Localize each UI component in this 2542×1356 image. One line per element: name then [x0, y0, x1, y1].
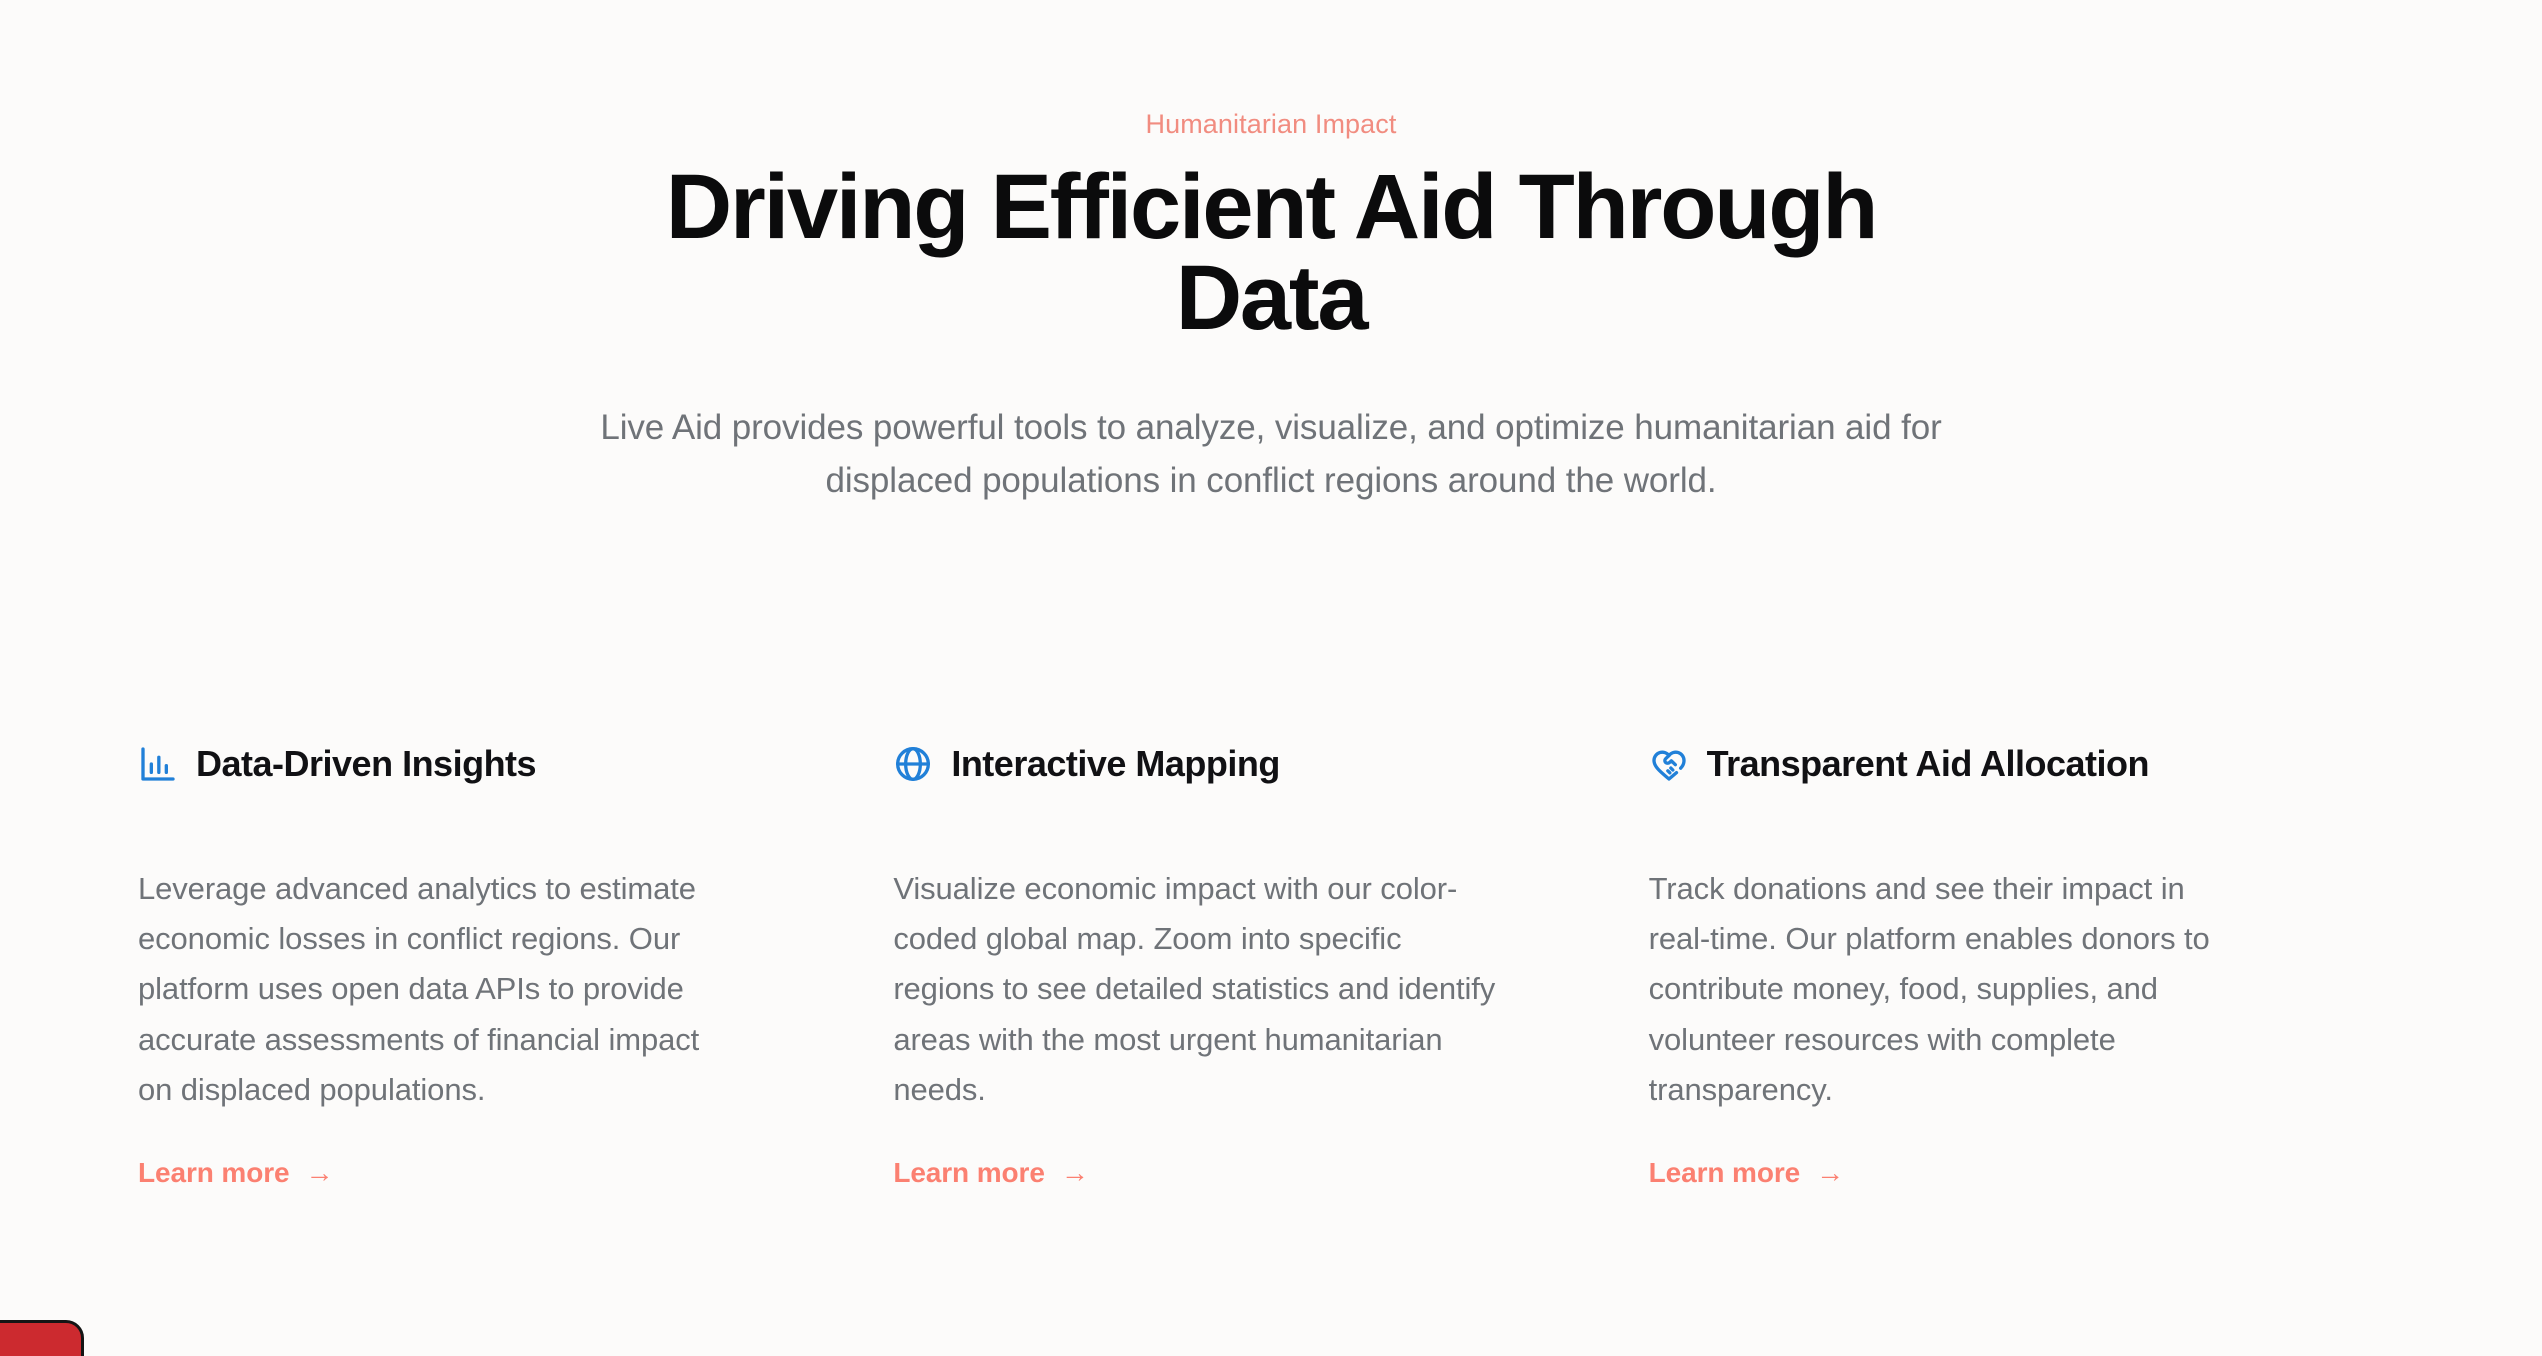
feature-description: Track donations and see their impact in … — [1649, 864, 2214, 1115]
feature-header: Data-Driven Insights — [138, 742, 733, 786]
feature-title: Data-Driven Insights — [196, 742, 536, 785]
feature-title: Transparent Aid Allocation — [1707, 742, 2149, 785]
learn-more-label: Learn more — [893, 1157, 1045, 1189]
globe-icon — [893, 744, 933, 784]
learn-more-label: Learn more — [1649, 1157, 1801, 1189]
feature-title: Interactive Mapping — [951, 742, 1280, 785]
feature-card-data-driven-insights: Data-Driven Insights Leverage advanced a… — [138, 742, 893, 1189]
arrow-right-icon: → — [1816, 1159, 1844, 1187]
page-root: Humanitarian Impact Driving Efficient Ai… — [0, 0, 2542, 1356]
floating-action-widget[interactable] — [0, 1320, 84, 1356]
bar-chart-icon — [138, 744, 178, 784]
heart-handshake-icon — [1649, 744, 1689, 784]
feature-description: Visualize economic impact with our color… — [893, 864, 1498, 1115]
arrow-right-icon: → — [1061, 1159, 1089, 1187]
feature-description: Leverage advanced analytics to estimate … — [138, 864, 733, 1115]
learn-more-link-interactive-mapping[interactable]: Learn more → — [893, 1157, 1088, 1189]
learn-more-label: Learn more — [138, 1157, 290, 1189]
feature-header: Interactive Mapping — [893, 742, 1498, 786]
hero-eyebrow: Humanitarian Impact — [0, 108, 2542, 140]
hero-subtitle: Live Aid provides powerful tools to anal… — [571, 401, 1971, 509]
feature-card-interactive-mapping: Interactive Mapping Visualize economic i… — [893, 742, 1648, 1189]
learn-more-link-data-driven-insights[interactable]: Learn more → — [138, 1157, 333, 1189]
hero-section: Humanitarian Impact Driving Efficient Ai… — [0, 0, 2542, 508]
learn-more-link-transparent-aid-allocation[interactable]: Learn more → — [1649, 1157, 1844, 1189]
feature-header: Transparent Aid Allocation — [1649, 742, 2214, 786]
feature-card-transparent-aid-allocation: Transparent Aid Allocation Track donatio… — [1649, 742, 2404, 1189]
features-section: Data-Driven Insights Leverage advanced a… — [0, 742, 2542, 1189]
page-title: Driving Efficient Aid Through Data — [571, 162, 1971, 344]
arrow-right-icon: → — [306, 1159, 334, 1187]
